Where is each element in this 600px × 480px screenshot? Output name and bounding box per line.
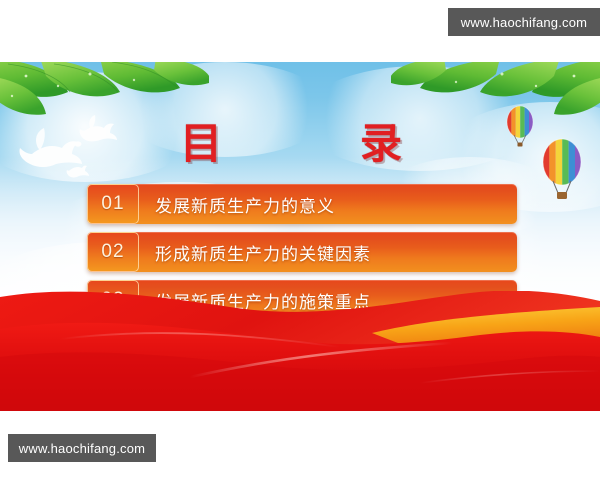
toc-item-01[interactable]: 01 发展新质生产力的意义 xyxy=(87,184,517,224)
watermark-bottom-left: www.haochifang.com xyxy=(8,434,156,462)
toc-item-label: 形成新质生产力的关键因素 xyxy=(139,232,517,272)
toc-number-badge: 01 xyxy=(87,184,139,224)
toc-item-03[interactable]: 03 发展新质生产力的施策重点 xyxy=(87,280,517,320)
toc-item-02[interactable]: 02 形成新质生产力的关键因素 xyxy=(87,232,517,272)
toc-number-badge: 03 xyxy=(87,280,139,320)
toc-item-label: 发展新质生产力的意义 xyxy=(139,184,517,224)
toc-list: 01 发展新质生产力的意义 02 形成新质生产力的关键因素 03 发展新质生产力… xyxy=(87,184,517,328)
presentation-slide: 目 录 01 发展新质生产力的意义 02 形成新质生产力的关键因素 03 发展新… xyxy=(0,62,600,411)
toc-number-badge: 02 xyxy=(87,232,139,272)
slide-page: 目 录 01 发展新质生产力的意义 02 形成新质生产力的关键因素 03 发展新… xyxy=(0,0,600,480)
watermark-top-right: www.haochifang.com xyxy=(448,8,600,36)
page-title: 目 录 xyxy=(0,110,600,171)
toc-item-label: 发展新质生产力的施策重点 xyxy=(139,280,517,320)
